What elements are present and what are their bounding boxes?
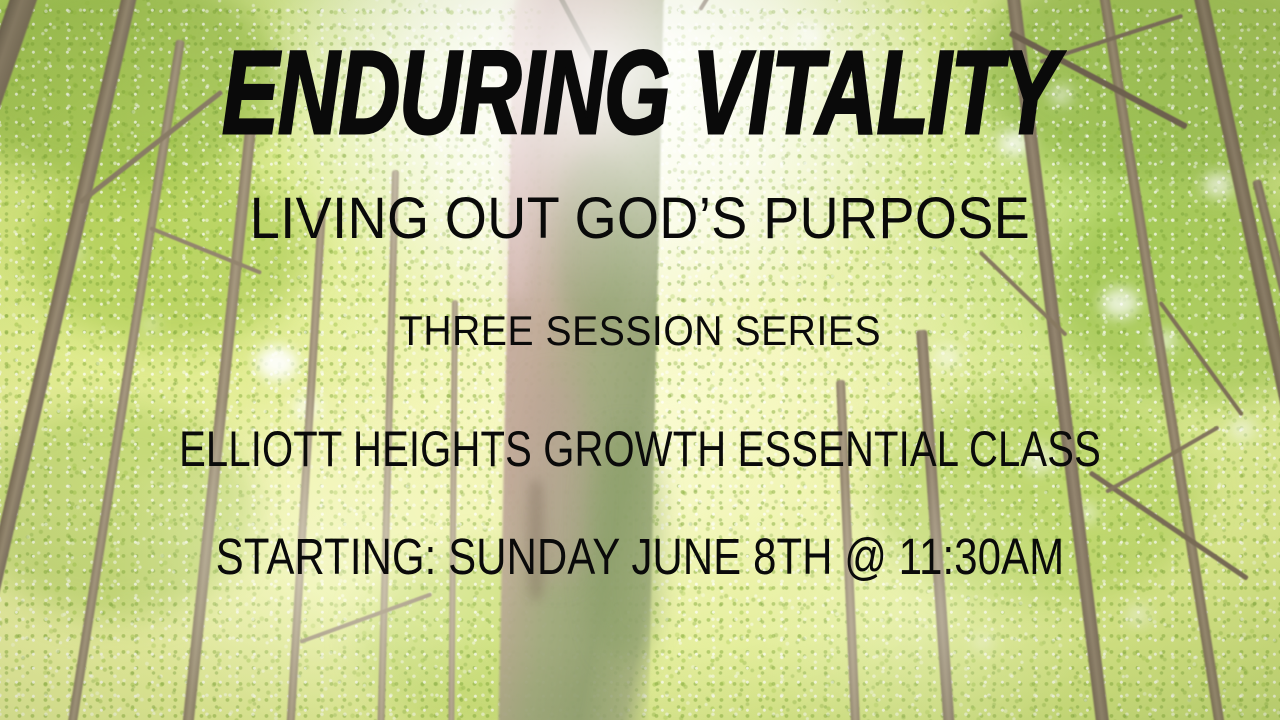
poster-text-content: ENDURING VITALITY LIVING OUT GOD’S PURPO… bbox=[0, 0, 1280, 720]
poster-series-line: THREE SESSION SERIES bbox=[45, 310, 1235, 352]
poster-subtitle: LIVING OUT GOD’S PURPOSE bbox=[45, 190, 1235, 248]
poster-start-line: STARTING: SUNDAY JUNE 8TH @ 11:30AM bbox=[115, 531, 1165, 582]
poster-title: ENDURING VITALITY bbox=[179, 34, 1101, 152]
poster-class-line: ELLIOTT HEIGHTS GROWTH ESSENTIAL CLASS bbox=[128, 424, 1152, 474]
promo-poster: ENDURING VITALITY LIVING OUT GOD’S PURPO… bbox=[0, 0, 1280, 720]
